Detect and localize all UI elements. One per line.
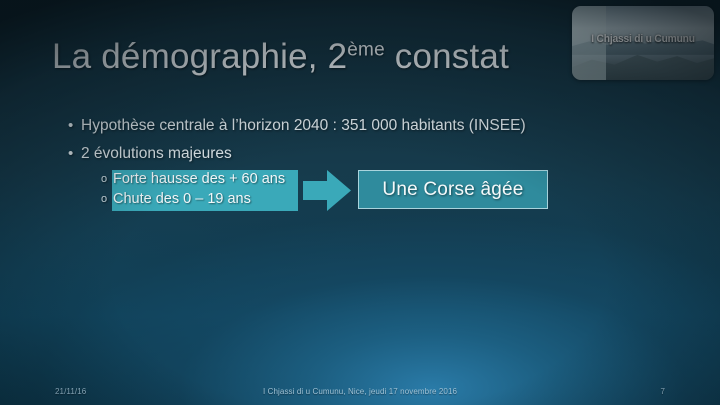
slide-canvas: La démographie, 2ème constat • Hypothèse…	[0, 0, 720, 405]
bullet-item: • 2 évolutions majeures	[68, 144, 232, 163]
bullet-marker-icon: •	[68, 116, 81, 135]
sub-bullet-marker-icon: o	[101, 170, 113, 189]
bullet-item: • Hypothèse centrale à l’horizon 2040 : …	[68, 116, 526, 135]
title-superscript: ème	[347, 39, 385, 60]
title-tail: constat	[385, 37, 509, 76]
footer-page-number: 7	[660, 387, 665, 396]
bullet-marker-icon: •	[68, 144, 81, 163]
page-title: La démographie, 2ème constat	[52, 38, 572, 77]
title-main: La démographie, 2	[52, 37, 347, 76]
sub-bullet-marker-icon: o	[101, 190, 113, 209]
logo: I Chjassi di u Cumunu	[572, 6, 714, 80]
bullet-label: 2 évolutions majeures	[81, 144, 232, 163]
right-arrow-icon	[303, 168, 351, 213]
footer-title: I Chjassi di u Cumunu, Nice, jeudi 17 no…	[0, 387, 720, 396]
callout-box: Une Corse âgée	[358, 170, 548, 209]
sub-bullet-item: o Forte hausse des + 60 ans	[101, 170, 285, 189]
sub-bullet-label: Chute des 0 – 19 ans	[113, 190, 251, 209]
logo-label: I Chjassi di u Cumunu	[577, 33, 709, 45]
sub-bullet-item: o Chute des 0 – 19 ans	[101, 190, 251, 209]
bullet-label: Hypothèse centrale à l’horizon 2040 : 35…	[81, 116, 526, 135]
sub-bullet-label: Forte hausse des + 60 ans	[113, 170, 285, 189]
callout-label: Une Corse âgée	[382, 179, 523, 201]
